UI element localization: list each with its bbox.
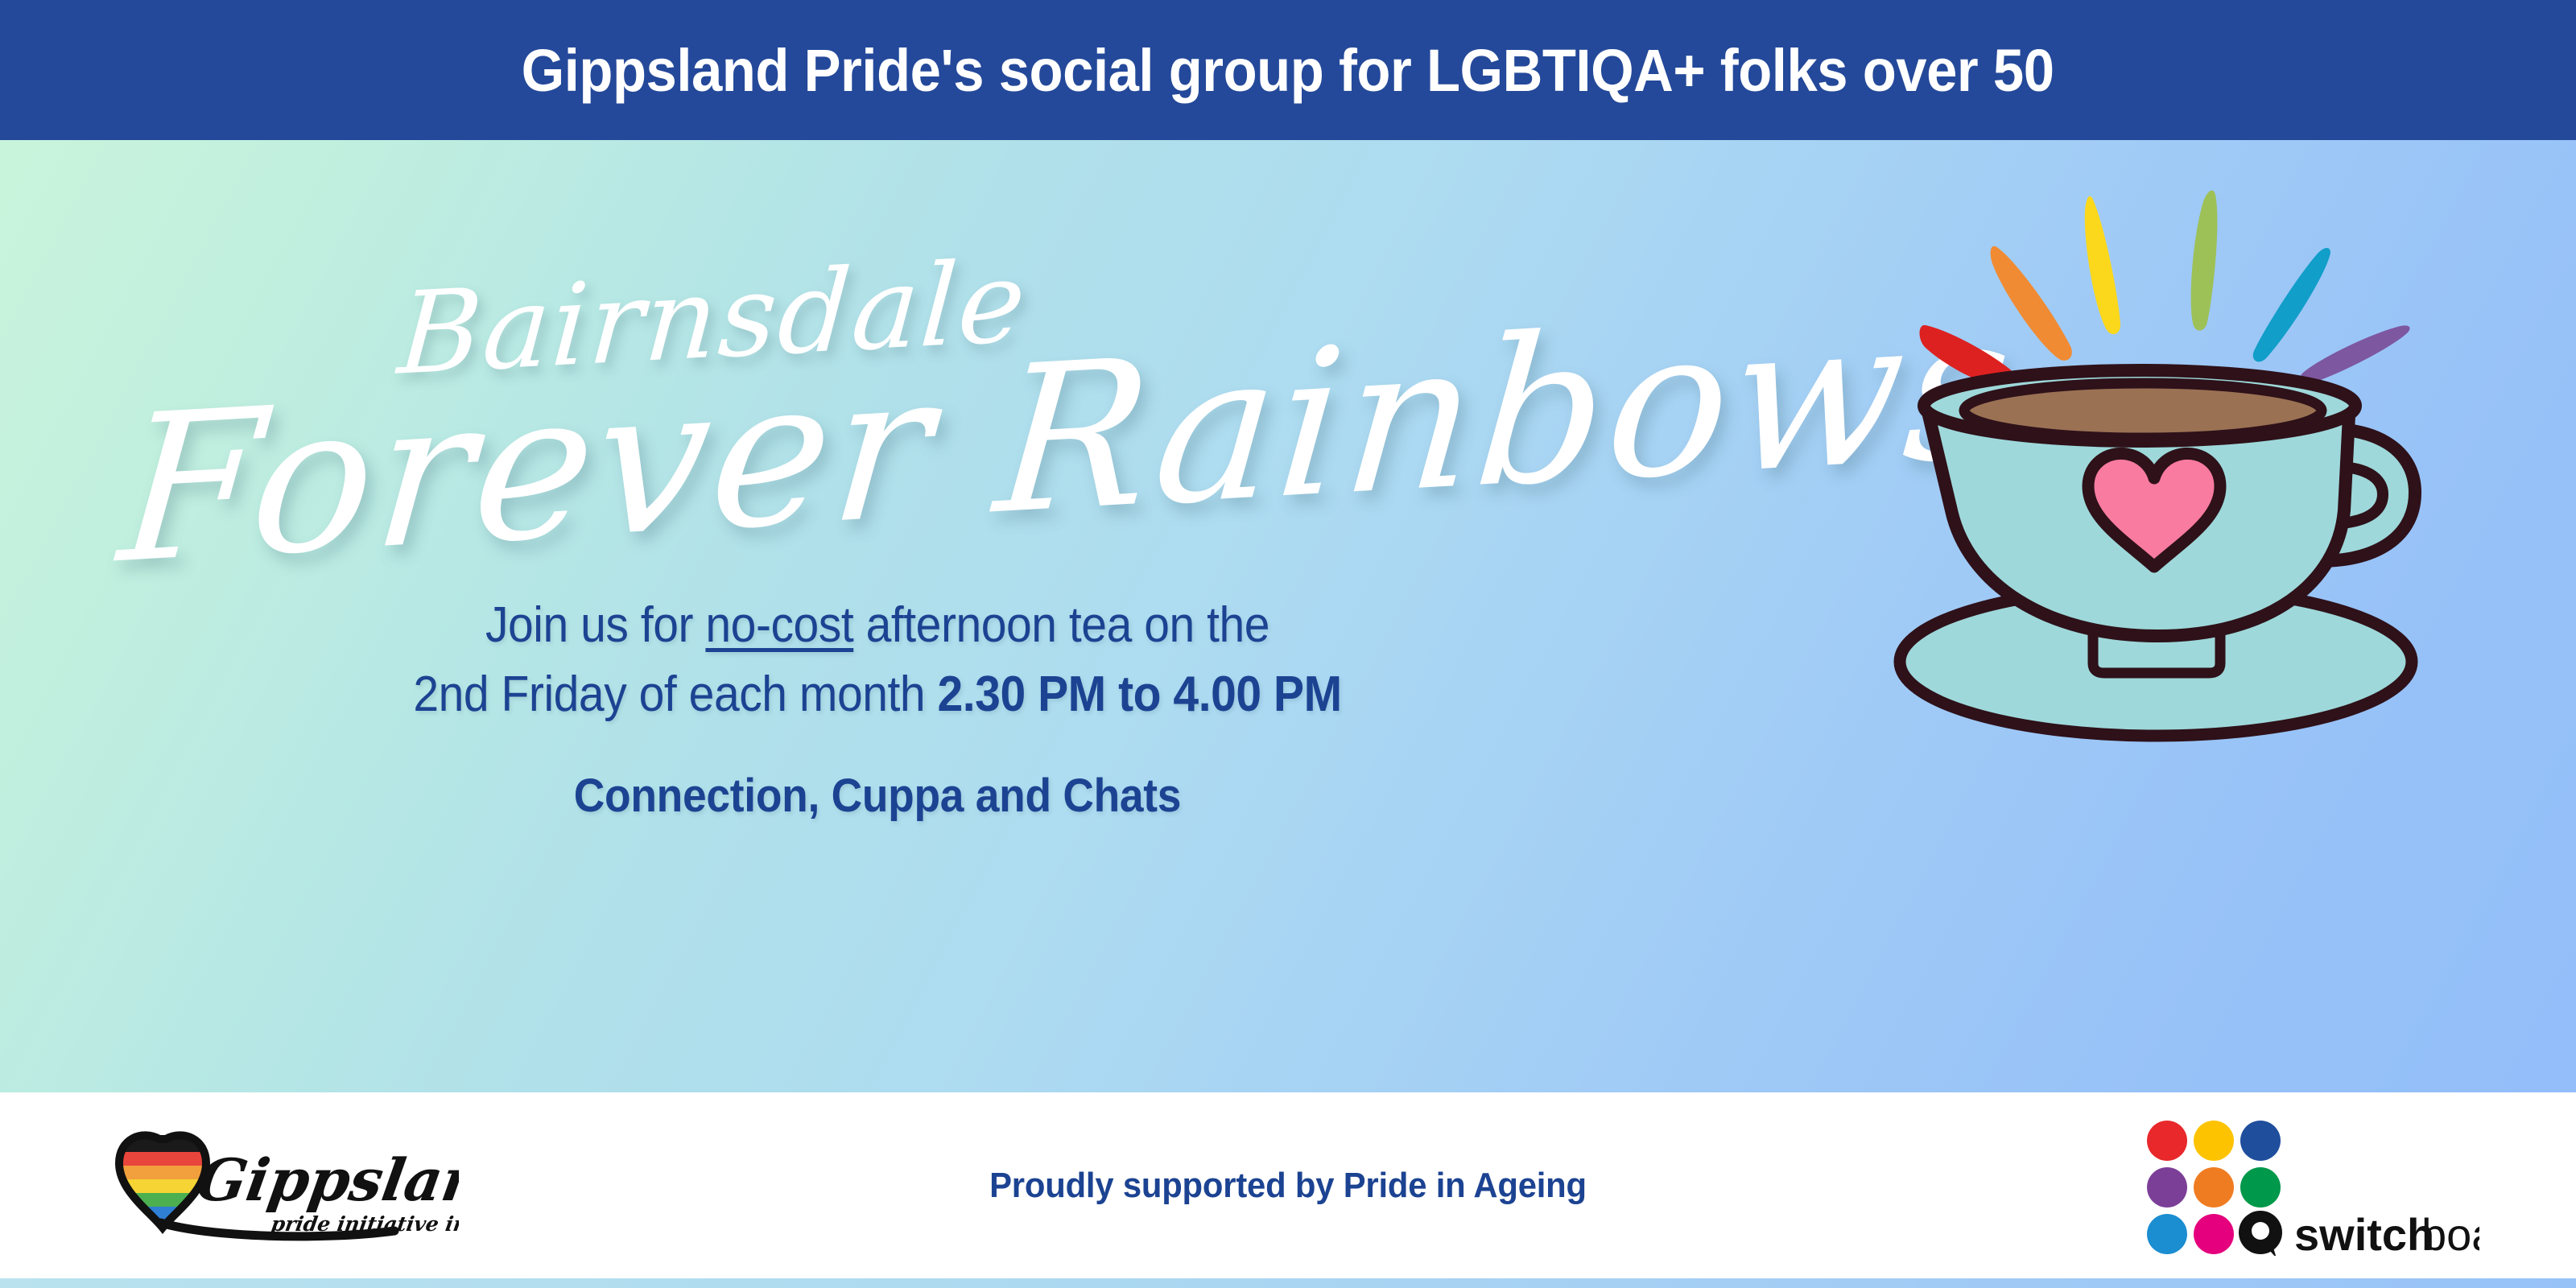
dot-lightblue: [2147, 1214, 2187, 1254]
copy-line-1-prefix: Join us for: [485, 597, 705, 653]
dot-green: [2240, 1167, 2281, 1207]
body-copy-block: Join us for no-cost afternoon tea on the…: [0, 591, 1755, 823]
header-band: Gippsland Pride's social group for LGBTI…: [0, 0, 2576, 140]
teacup-illustration: [1851, 164, 2447, 760]
blue-ray: [2253, 248, 2330, 362]
copy-line-1-underlined: no-cost: [705, 597, 853, 653]
q-speech-bubble-icon: [2239, 1211, 2282, 1256]
bottom-accent-strip: [0, 1278, 2576, 1288]
dot-purple: [2147, 1167, 2187, 1207]
dot-blue: [2240, 1121, 2281, 1161]
copy-line-2-time: 2.30 PM to 4.00 PM: [938, 667, 1342, 722]
dot-red: [2147, 1121, 2187, 1161]
dot-orange: [2194, 1167, 2234, 1207]
switchboard-word-light: board: [2421, 1209, 2479, 1256]
copy-line-2-regular: 2nd Friday of each month: [413, 667, 937, 722]
copy-tagline: Connection, Cuppa and Chats: [70, 769, 1685, 823]
yellow-ray: [2085, 196, 2120, 335]
header-title: Gippsland Pride's social group for LGBTI…: [522, 36, 2054, 105]
orange-ray: [1991, 246, 2072, 361]
green-ray: [2191, 190, 2218, 330]
copy-line-1-suffix: afternoon tea on the: [853, 597, 1269, 653]
switchboard-logo: switch board: [2141, 1115, 2479, 1256]
tea-surface: [1964, 383, 2322, 438]
copy-line-1: Join us for no-cost afternoon tea on the: [70, 591, 1685, 660]
copy-line-2: 2nd Friday of each month 2.30 PM to 4.00…: [70, 660, 1685, 729]
dot-magenta: [2194, 1214, 2234, 1254]
footer-band: Gippsland pride initiative inc Proudly s…: [0, 1092, 2576, 1278]
switchboard-word-bold: switch: [2294, 1209, 2434, 1256]
poster-canvas: Gippsland Pride's social group for LGBTI…: [0, 0, 2576, 1288]
script-title-block: Bairnsdale Forever Rainbows: [121, 164, 1690, 615]
rainbow-rays: [1920, 190, 2410, 386]
dot-yellow: [2194, 1121, 2234, 1161]
main-panel: Bairnsdale Forever Rainbows Join us for …: [0, 140, 2576, 1092]
purple-ray: [2300, 325, 2409, 383]
